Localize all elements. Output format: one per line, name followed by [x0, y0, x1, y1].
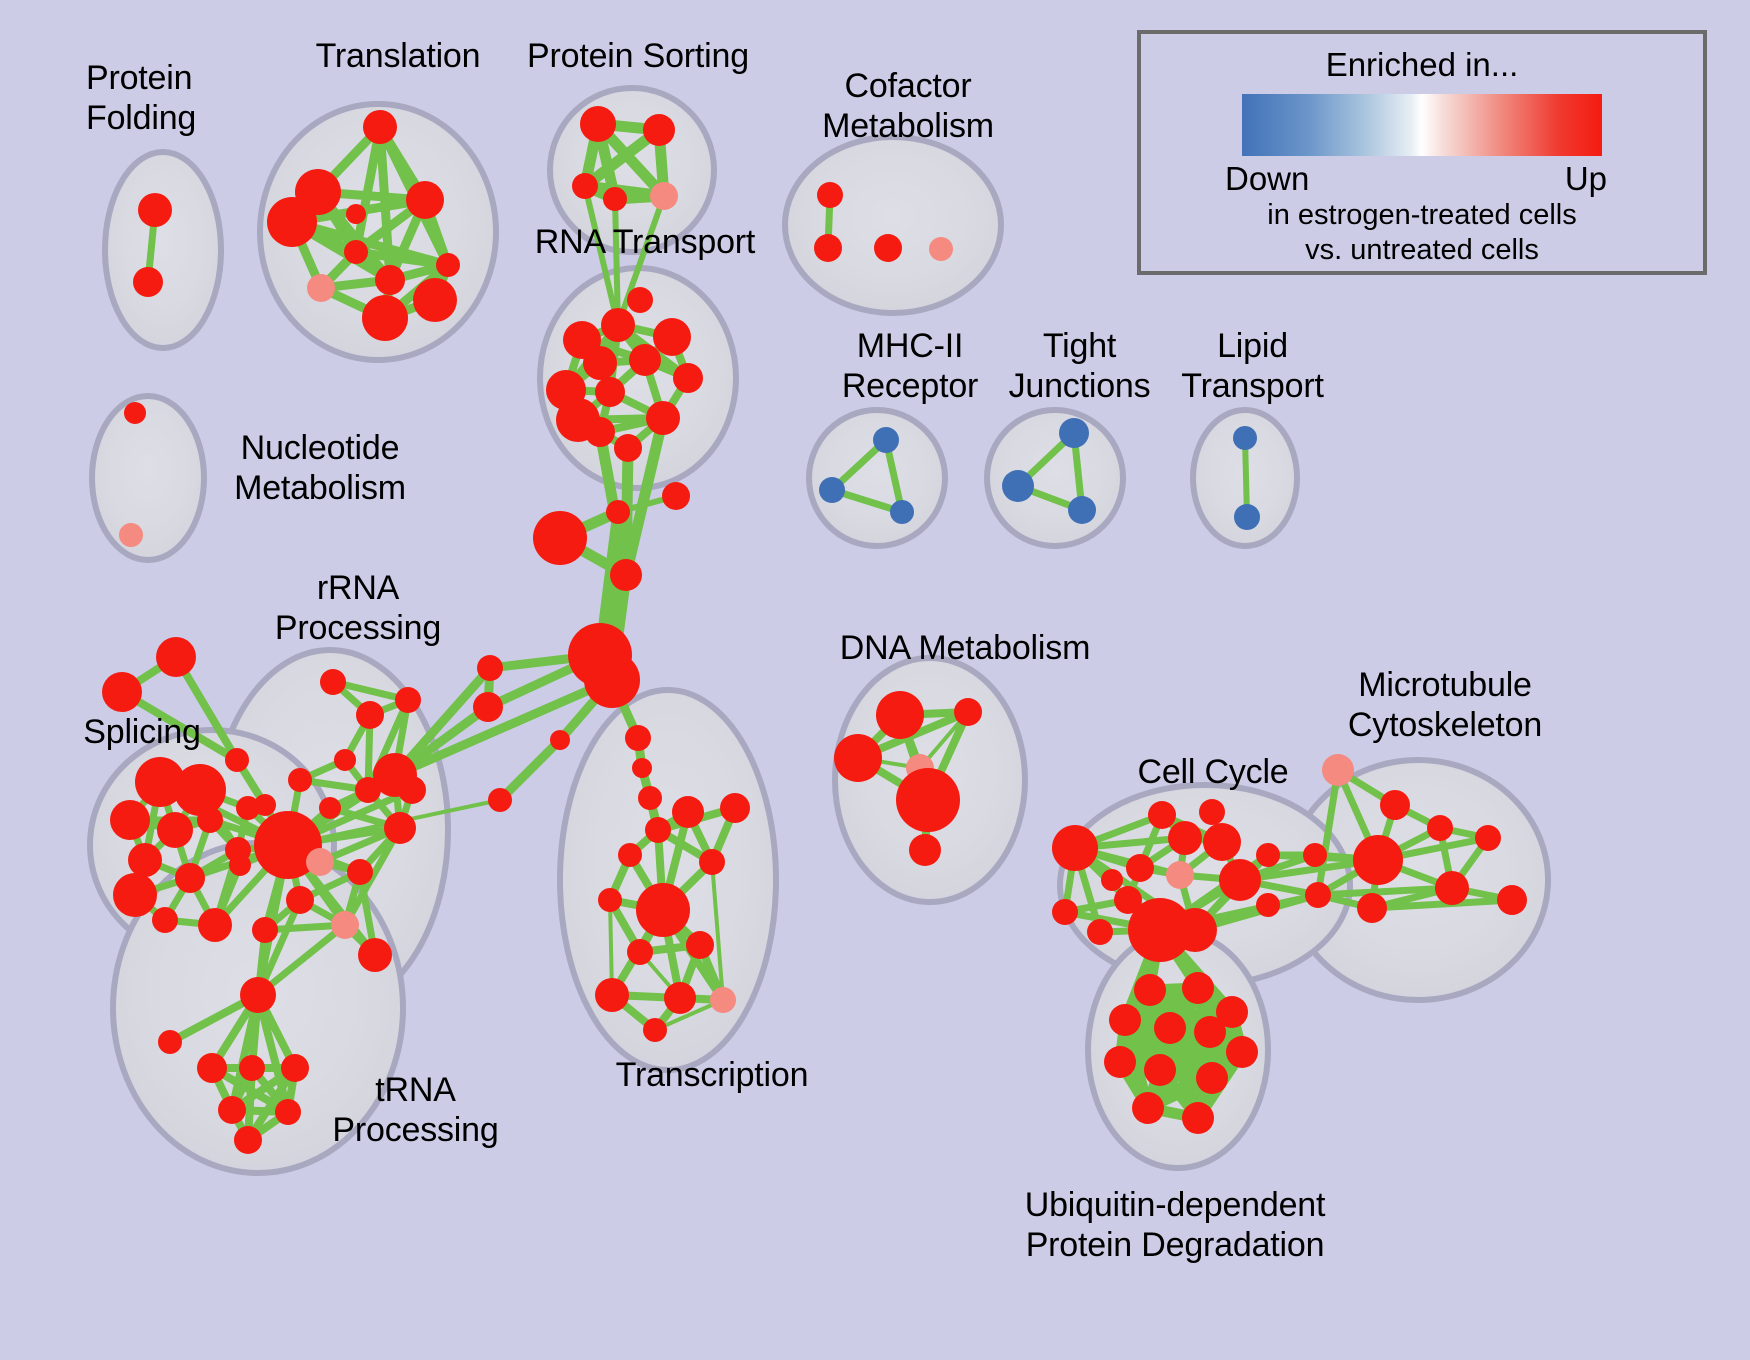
node[interactable] — [643, 1018, 667, 1042]
node[interactable] — [346, 204, 366, 224]
node[interactable] — [473, 692, 503, 722]
node[interactable] — [595, 978, 629, 1012]
node[interactable] — [580, 106, 616, 142]
edge — [615, 199, 618, 325]
node[interactable] — [218, 1096, 246, 1124]
node[interactable] — [1087, 919, 1113, 945]
node[interactable] — [344, 240, 368, 264]
cluster-ellipse-protein-folding — [105, 152, 221, 348]
node[interactable] — [307, 274, 335, 302]
node[interactable] — [1144, 1054, 1176, 1086]
node[interactable] — [158, 1030, 182, 1054]
node[interactable] — [819, 477, 845, 503]
cluster-label-transcription: Transcription — [572, 1055, 852, 1095]
node[interactable] — [614, 434, 642, 462]
node[interactable] — [1196, 1062, 1228, 1094]
node[interactable] — [1427, 815, 1453, 841]
node[interactable] — [239, 1055, 265, 1081]
node[interactable] — [817, 182, 843, 208]
node[interactable] — [286, 886, 314, 914]
cluster-label-cell-cycle: Cell Cycle — [1098, 752, 1328, 792]
node[interactable] — [618, 843, 642, 867]
node[interactable] — [413, 278, 457, 322]
node[interactable] — [1219, 859, 1261, 901]
node[interactable] — [627, 939, 653, 965]
node[interactable] — [358, 938, 392, 972]
cluster-label-splicing: Splicing — [52, 712, 232, 752]
node[interactable] — [909, 834, 941, 866]
node[interactable] — [632, 758, 652, 778]
node[interactable] — [1068, 496, 1096, 524]
node[interactable] — [673, 363, 703, 393]
node[interactable] — [1128, 898, 1192, 962]
node[interactable] — [646, 401, 680, 435]
cluster-label-rrna-processing: rRNA Processing — [248, 568, 468, 648]
node[interactable] — [347, 859, 373, 885]
node[interactable] — [664, 982, 696, 1014]
node[interactable] — [672, 796, 704, 828]
node[interactable] — [175, 863, 205, 893]
node[interactable] — [603, 187, 627, 211]
node[interactable] — [477, 655, 503, 681]
node[interactable] — [1475, 825, 1501, 851]
node[interactable] — [1380, 790, 1410, 820]
node[interactable] — [653, 318, 691, 356]
node[interactable] — [102, 672, 142, 712]
node[interactable] — [550, 730, 570, 750]
node[interactable] — [1052, 825, 1098, 871]
node[interactable] — [157, 812, 193, 848]
node[interactable] — [686, 931, 714, 959]
node[interactable] — [110, 800, 150, 840]
node[interactable] — [601, 308, 635, 342]
node[interactable] — [395, 687, 421, 713]
node[interactable] — [1305, 882, 1331, 908]
node[interactable] — [320, 669, 346, 695]
node[interactable] — [1104, 1046, 1136, 1078]
cluster-ellipse-nucleotide-metabolism — [92, 396, 204, 560]
node[interactable] — [152, 907, 178, 933]
node[interactable] — [1216, 996, 1248, 1028]
cluster-label-protein-folding: Protein Folding — [86, 58, 286, 138]
cluster-label-rna-transport: RNA Transport — [500, 222, 790, 262]
node[interactable] — [643, 114, 675, 146]
node[interactable] — [1182, 972, 1214, 1004]
node[interactable] — [197, 1053, 227, 1083]
node[interactable] — [625, 725, 651, 751]
node[interactable] — [384, 812, 416, 844]
node[interactable] — [890, 500, 914, 524]
node[interactable] — [699, 849, 725, 875]
node[interactable] — [1256, 893, 1280, 917]
node[interactable] — [598, 888, 622, 912]
node[interactable] — [1126, 854, 1154, 882]
node[interactable] — [585, 417, 615, 447]
node[interactable] — [229, 854, 251, 876]
node[interactable] — [234, 1126, 262, 1154]
node[interactable] — [610, 559, 642, 591]
cluster-label-dna-metabolism: DNA Metabolism — [800, 628, 1130, 668]
node[interactable] — [874, 234, 902, 262]
node[interactable] — [306, 848, 334, 876]
node[interactable] — [533, 511, 587, 565]
node[interactable] — [331, 911, 359, 939]
node[interactable] — [572, 173, 598, 199]
node[interactable] — [1199, 799, 1225, 825]
figure-canvas: Protein Folding Translation Protein Sort… — [0, 0, 1750, 1360]
legend-box: Enriched in... Down Up in estrogen-treat… — [1137, 30, 1707, 275]
node[interactable] — [398, 776, 426, 804]
node[interactable] — [124, 402, 146, 424]
node[interactable] — [1357, 893, 1387, 923]
node[interactable] — [197, 807, 223, 833]
node[interactable] — [896, 768, 960, 832]
legend-down-label: Down — [1225, 160, 1309, 198]
node[interactable] — [638, 786, 662, 810]
node[interactable] — [281, 1054, 309, 1082]
node[interactable] — [156, 637, 196, 677]
node[interactable] — [1256, 843, 1280, 867]
node[interactable] — [356, 701, 384, 729]
node[interactable] — [873, 427, 899, 453]
node[interactable] — [1134, 974, 1166, 1006]
node[interactable] — [834, 734, 882, 782]
node[interactable] — [645, 817, 671, 843]
node[interactable] — [375, 265, 405, 295]
node[interactable] — [113, 873, 157, 917]
node[interactable] — [650, 182, 678, 210]
node[interactable] — [606, 500, 630, 524]
node[interactable] — [1233, 426, 1257, 450]
node[interactable] — [138, 193, 172, 227]
node[interactable] — [275, 1099, 301, 1125]
node[interactable] — [1182, 1102, 1214, 1134]
node[interactable] — [254, 794, 276, 816]
node[interactable] — [1109, 1004, 1141, 1036]
node[interactable] — [1101, 869, 1123, 891]
node[interactable] — [629, 344, 661, 376]
node[interactable] — [252, 917, 278, 943]
node[interactable] — [119, 523, 143, 547]
cluster-label-lipid-transport: Lipid Transport — [1150, 326, 1355, 406]
legend-caption-line-2: vs. untreated cells — [1141, 233, 1703, 268]
node[interactable] — [1132, 1092, 1164, 1124]
node[interactable] — [1435, 871, 1469, 905]
node[interactable] — [814, 234, 842, 262]
legend-title: Enriched in... — [1141, 46, 1703, 84]
node[interactable] — [583, 346, 617, 380]
node[interactable] — [1166, 861, 1194, 889]
node[interactable] — [636, 883, 690, 937]
node[interactable] — [1234, 504, 1260, 530]
node[interactable] — [133, 267, 163, 297]
legend-endpoint-labels: Down Up — [1207, 160, 1637, 198]
node[interactable] — [1353, 835, 1403, 885]
node[interactable] — [198, 908, 232, 942]
node[interactable] — [1059, 418, 1089, 448]
cluster-label-microtubule-cytoskeleton: Microtubule Cytoskeleton — [1295, 665, 1595, 745]
node[interactable] — [929, 237, 953, 261]
node[interactable] — [1002, 470, 1034, 502]
node[interactable] — [1154, 1012, 1186, 1044]
node[interactable] — [174, 764, 226, 816]
node[interactable] — [363, 110, 397, 144]
cluster-label-protein-sorting: Protein Sorting — [488, 36, 788, 76]
node[interactable] — [288, 768, 312, 792]
node[interactable] — [128, 843, 162, 877]
node[interactable] — [627, 287, 653, 313]
node[interactable] — [1303, 843, 1327, 867]
node[interactable] — [240, 977, 276, 1013]
node[interactable] — [488, 788, 512, 812]
node[interactable] — [1226, 1036, 1258, 1068]
cluster-label-cofactor-metabolism: Cofactor Metabolism — [788, 66, 1028, 146]
node[interactable] — [436, 253, 460, 277]
node[interactable] — [1497, 885, 1527, 915]
node[interactable] — [319, 797, 341, 819]
cluster-label-ubiquitin: Ubiquitin-dependent Protein Degradation — [1000, 1185, 1350, 1265]
legend-caption-line-1: in estrogen-treated cells — [1141, 198, 1703, 233]
node[interactable] — [720, 793, 750, 823]
node[interactable] — [334, 749, 356, 771]
cluster-ellipse-cofactor-metabolism — [785, 137, 1001, 313]
node[interactable] — [1168, 821, 1202, 855]
node[interactable] — [1203, 823, 1241, 861]
legend-up-label: Up — [1565, 160, 1607, 198]
node[interactable] — [362, 295, 408, 341]
node[interactable] — [584, 652, 640, 708]
node[interactable] — [954, 698, 982, 726]
node[interactable] — [662, 482, 690, 510]
cluster-label-nucleotide-metabolism: Nucleotide Metabolism — [190, 428, 450, 508]
node[interactable] — [1148, 801, 1176, 829]
node[interactable] — [876, 691, 924, 739]
node[interactable] — [710, 987, 736, 1013]
node[interactable] — [406, 181, 444, 219]
cluster-label-trna-processing: tRNA Processing — [308, 1070, 523, 1150]
node[interactable] — [1052, 899, 1078, 925]
node[interactable] — [595, 377, 625, 407]
node[interactable] — [267, 197, 317, 247]
legend-color-gradient-bar — [1242, 94, 1602, 156]
